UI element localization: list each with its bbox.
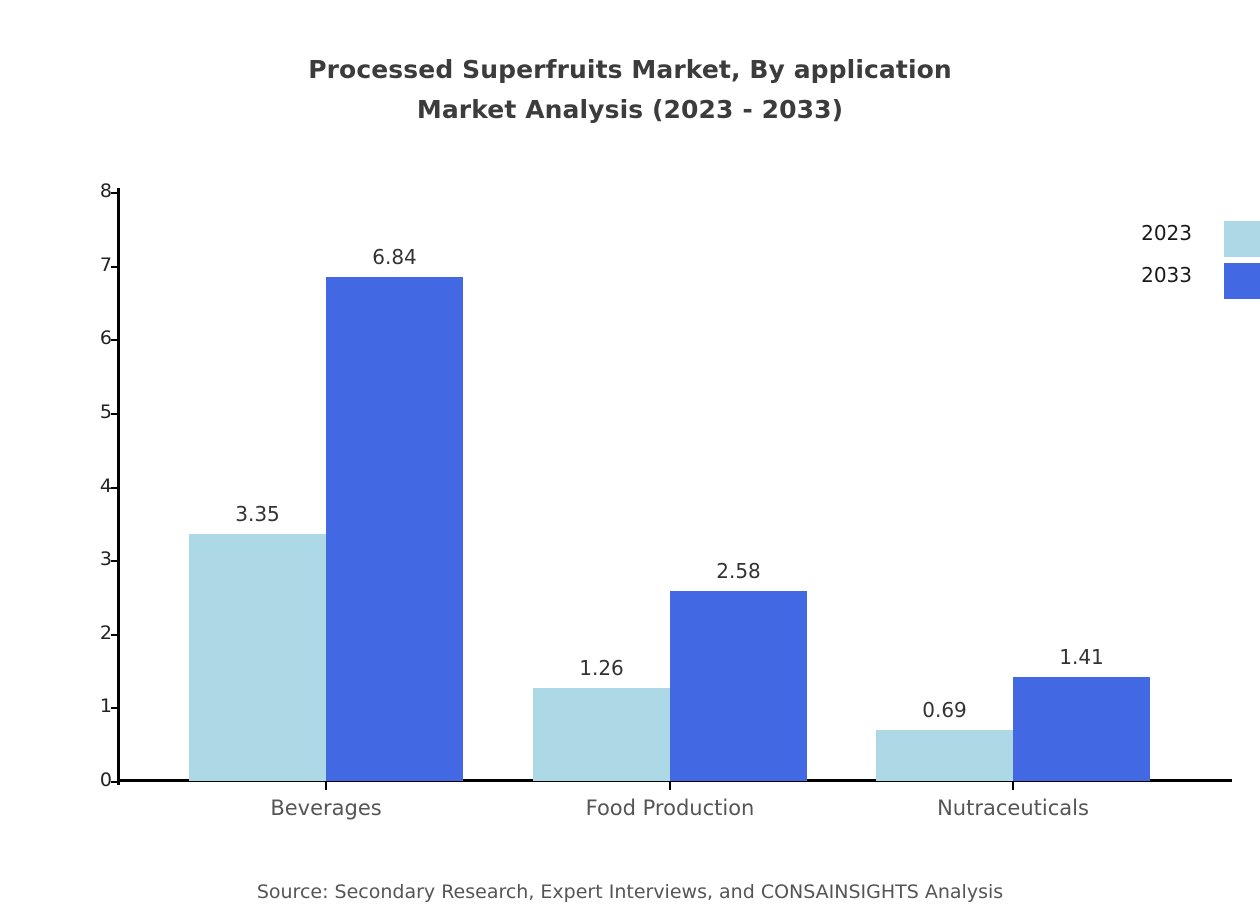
bar-value-label-beverages-2023: 3.35 — [189, 502, 326, 526]
bar-value-label-nutraceuticals-2033: 1.41 — [1013, 645, 1150, 669]
bar-beverages-2033[interactable] — [326, 277, 463, 781]
x-tick-1 — [669, 781, 671, 790]
x-axis-label-beverages: Beverages — [176, 795, 476, 821]
y-tick-mark — [111, 339, 120, 341]
bar-value-label-nutraceuticals-2023: 0.69 — [876, 698, 1013, 722]
y-tick-mark — [111, 192, 120, 194]
y-tick-mark — [111, 707, 120, 709]
legend: 20232033 — [1100, 215, 1260, 310]
y-tick-mark — [111, 413, 120, 415]
x-tick-2 — [1012, 781, 1014, 790]
bar-value-label-beverages-2033: 6.84 — [326, 245, 463, 269]
legend-swatch-2033 — [1224, 263, 1260, 299]
y-tick-label: 1 — [100, 695, 112, 717]
legend-item-2023[interactable]: 2023 — [1100, 215, 1260, 251]
bar-nutraceuticals-2023[interactable] — [876, 730, 1013, 781]
y-tick-mark — [111, 781, 120, 783]
x-tick-0 — [325, 781, 327, 790]
y-tick-mark — [111, 487, 120, 489]
source-note: Source: Secondary Research, Expert Inter… — [0, 879, 1260, 905]
legend-item-2033[interactable]: 2033 — [1100, 257, 1260, 293]
y-tick-mark — [111, 560, 120, 562]
bar-value-label-food-production-2023: 1.26 — [533, 656, 670, 680]
bar-food-production-2033[interactable] — [670, 591, 807, 781]
bar-food-production-2023[interactable] — [533, 688, 670, 781]
chart-title-line-1: Processed Superfruits Market, By applica… — [0, 50, 1260, 90]
legend-swatch-2023 — [1224, 221, 1260, 257]
chart-title: Processed Superfruits Market, By applica… — [0, 50, 1260, 130]
y-tick-label: 6 — [100, 327, 112, 349]
y-tick-label: 8 — [100, 180, 112, 202]
legend-label-2023: 2023 — [1141, 219, 1192, 247]
x-axis-label-food-production: Food Production — [520, 795, 820, 821]
y-tick-label: 0 — [100, 769, 112, 791]
y-tick-mark — [111, 634, 120, 636]
y-tick-label: 2 — [100, 622, 112, 644]
bar-beverages-2023[interactable] — [189, 534, 326, 781]
bar-value-label-food-production-2033: 2.58 — [670, 559, 807, 583]
y-tick-label: 5 — [100, 401, 112, 423]
y-tick-label: 7 — [100, 254, 112, 276]
y-tick-label: 3 — [100, 548, 112, 570]
y-tick-mark — [111, 266, 120, 268]
bar-nutraceuticals-2033[interactable] — [1013, 677, 1150, 781]
plot-area: 012345678 3.356.841.262.580.691.41 — [120, 192, 1232, 781]
chart-title-line-2: Market Analysis (2023 - 2033) — [0, 90, 1260, 130]
y-tick-label: 4 — [100, 475, 112, 497]
x-axis-label-nutraceuticals: Nutraceuticals — [863, 795, 1163, 821]
legend-label-2033: 2033 — [1141, 261, 1192, 289]
